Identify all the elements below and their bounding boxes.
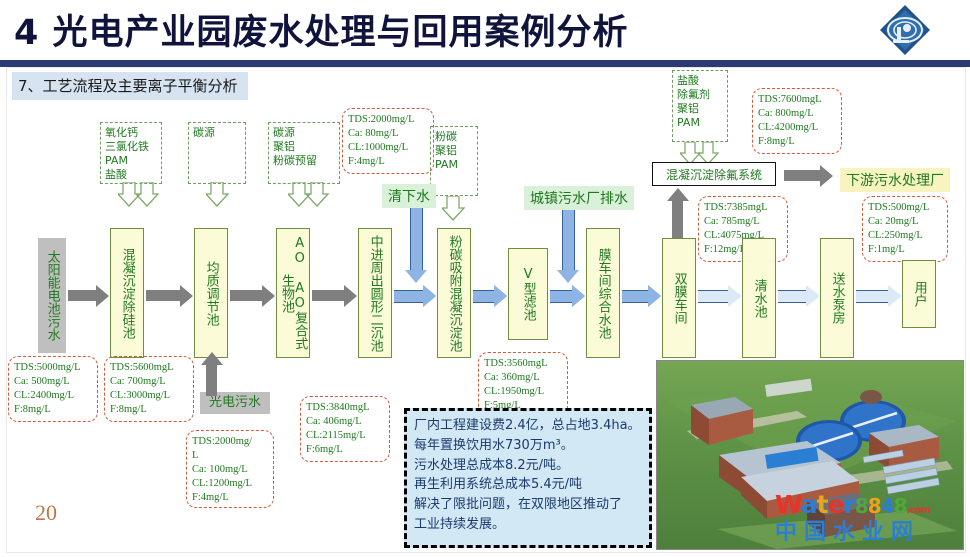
data-box-d7: TDS:7600mgL Ca: 800mg/L CL:4200mg/L F:8m… (752, 88, 842, 154)
process-box-v-filter: V型滤池 (508, 248, 548, 340)
process-box-pac-adsorption: 粉碳吸附混凝沉淀池 (437, 228, 471, 358)
dosing-arrow-icon-3b (306, 182, 332, 208)
coagulation-defluorination-system-box: 混凝沉淀除氟系统 (652, 162, 776, 186)
chemical-box-4: 粉碳 聚铝 PAM (430, 126, 478, 196)
tag-municipal-effluent: 城镇污水厂排水 (524, 186, 634, 210)
page-number: 20 (35, 500, 57, 526)
slide-root: 4 光电产业园废水处理与回用案例分析 7、工艺流程及主要离子平衡分析 氧化钙 三… (0, 0, 970, 557)
process-box-clear-water-tank: 清水池 (742, 238, 776, 358)
title-band: 4 光电产业园废水处理与回用案例分析 (0, 0, 970, 62)
dosing-arrow-icon-4 (442, 196, 468, 222)
feed-arrow-pv-wastewater (200, 352, 224, 396)
flow-arrow-3 (230, 284, 276, 306)
data-box-d2: TDS:5600mgL Ca: 700mg/L CL:3000mg/L F:8m… (104, 356, 194, 422)
feed-arrow-municipal (556, 210, 580, 284)
summary-note-box: 厂内工程建设费2.4亿，总占地3.4ha。 每年置换饮用水730万m³。 污水处… (404, 408, 652, 548)
chemical-box-2: 碳源 (188, 122, 246, 184)
flow-arrow-9 (698, 284, 742, 306)
data-box-d1: TDS:5000mg/L Ca: 500mg/L CL:2400mg/L F:8… (8, 356, 98, 422)
institutional-emblem-icon (877, 2, 933, 58)
flow-arrow-8 (622, 284, 662, 306)
tag-qingxiashui: 清下水 (382, 184, 436, 208)
chemical-box-1: 氧化钙 三氯化铁 PAM 盐酸 (100, 122, 162, 184)
chemical-box-5: 盐酸 除氟剂 聚铝 PAM (672, 70, 728, 142)
feed-arrow-clearwater (404, 208, 428, 284)
dosing-arrow-icon-2 (206, 182, 232, 208)
section-subtitle: 7、工艺流程及主要离子平衡分析 (12, 72, 248, 100)
tag-downstream-plant: 下游污水处理厂 (840, 168, 950, 192)
dosing-arrow-icon-1b (136, 182, 162, 208)
flow-arrow-4 (312, 284, 358, 306)
page-title: 4 光电产业园废水处理与回用案例分析 (14, 4, 629, 55)
process-box-coagulation-desilication: 混凝沉淀除硅池 (110, 228, 144, 358)
flow-arrow-11 (856, 284, 902, 306)
svg-text:中国水业网: 中国水业网 (775, 520, 920, 545)
process-box-membrane-water-tank: 膜车间综合水池 (586, 228, 620, 358)
process-box-double-membrane-shop: 双膜车间 (662, 238, 696, 358)
flow-arrow-6 (473, 284, 508, 306)
aerial-photo-wastewater-plant: Water8848.com 中国水业网 (656, 360, 964, 550)
process-box-secondary-clarifier: 中进周出圆形二沉池 (358, 228, 392, 358)
process-box-pv-wastewater: 太阳能电池污水 (38, 238, 66, 353)
flow-arrow-1 (68, 284, 110, 306)
flow-arrow-10 (778, 284, 820, 306)
title-underline (0, 60, 970, 67)
chemical-box-3: 碳源 聚铝 粉碳预留 (268, 122, 340, 184)
flow-arrow-5 (394, 284, 437, 306)
data-box-d5: TDS:2000mg/L Ca: 80mg/L CL:1000mg/L F:4m… (342, 108, 434, 174)
process-box-users: 用户 (902, 260, 936, 328)
arrow-up-to-system (666, 188, 688, 244)
flow-arrow-2 (146, 284, 194, 306)
flow-arrow-7 (550, 284, 586, 306)
data-box-d3: TDS:2000mg/ L Ca: 100mg/L CL:1200mg/L F:… (186, 430, 274, 508)
process-box-pump-house: 送水泵房 (820, 238, 854, 358)
data-box-d9: TDS:500mg/L Ca: 20mg/L CL:250mg/L F:1mg/… (862, 196, 948, 262)
process-box-ao-ao-bio: AO AO复合式生物池 (276, 228, 310, 358)
arrow-to-downstream-plant (784, 164, 834, 186)
process-box-equalization-tank: 均质调节池 (194, 228, 228, 358)
data-box-d4: TDS:3840mgL Ca: 406mg/L CL:2115mg/L F:6m… (300, 396, 390, 462)
